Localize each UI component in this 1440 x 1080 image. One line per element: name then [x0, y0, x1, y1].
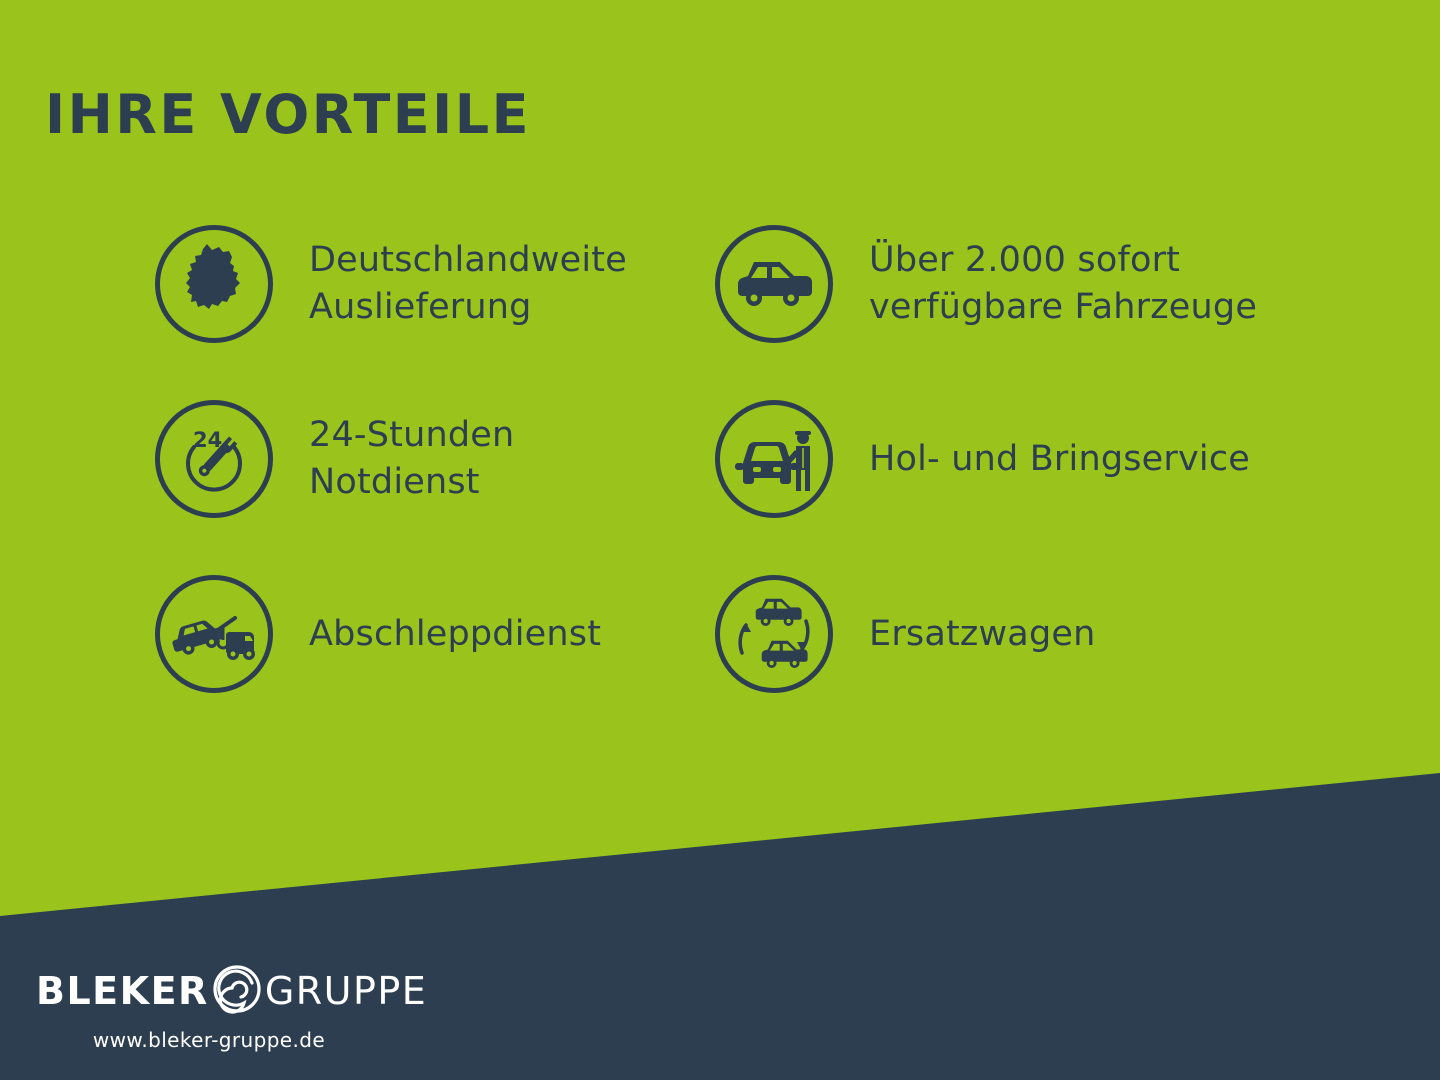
benefit-item-24-stunden-notdienst[interactable]: 24 24-Stunden Notdienst: [155, 400, 715, 518]
benefit-label: Ersatzwagen: [869, 611, 1096, 658]
footer-logo-block[interactable]: BLEKER GRUPPE www.bleker-gruppe.de: [36, 963, 416, 1052]
benefit-label-line2: verfügbare Fahrzeuge: [869, 284, 1257, 331]
benefits-row-1: Deutschlandweite Auslieferung: [155, 225, 1355, 400]
benefit-label: Abschleppdienst: [309, 611, 601, 658]
benefit-label: Über 2.000 sofort verfügbare Fahrzeuge: [869, 237, 1257, 330]
car-with-driver-icon: [715, 400, 833, 518]
car-exchange-icon: [715, 575, 833, 693]
benefits-row-2: 24 24-Stunden Notdienst: [155, 400, 1355, 575]
logo-gruppe-text: GRUPPE: [265, 972, 428, 1010]
benefit-label-line1: 24-Stunden: [309, 415, 514, 455]
page-title: IHRE VORTEILE: [45, 88, 531, 142]
clock-24-wrench-icon: 24: [155, 400, 273, 518]
benefit-item-ersatzwagen[interactable]: Ersatzwagen: [715, 575, 1335, 693]
svg-text:24: 24: [193, 428, 222, 452]
tow-truck-icon: [155, 575, 273, 693]
slide-root: IHRE VORTEILE Deutschlandweite Ausliefer…: [0, 0, 1440, 1080]
logo-url-text[interactable]: www.bleker-gruppe.de: [36, 1028, 416, 1052]
benefit-item-deutschlandweite-auslieferung[interactable]: Deutschlandweite Auslieferung: [155, 225, 715, 343]
benefit-label: 24-Stunden Notdienst: [309, 412, 514, 505]
logo-wordmark: BLEKER GRUPPE: [36, 963, 416, 1018]
spiral-logo-icon: [211, 963, 263, 1018]
benefit-label-line1: Über 2.000 sofort: [869, 240, 1180, 280]
benefit-item-abschleppdienst[interactable]: Abschleppdienst: [155, 575, 715, 693]
benefit-label-line1: Ersatzwagen: [869, 614, 1096, 654]
benefit-item-hol-und-bringservice[interactable]: Hol- und Bringservice: [715, 400, 1335, 518]
germany-map-icon: [155, 225, 273, 343]
benefit-label-line2: Auslieferung: [309, 284, 627, 331]
logo-bleker-text: BLEKER: [36, 972, 209, 1010]
benefit-label: Hol- und Bringservice: [869, 436, 1250, 483]
benefits-row-3: Abschleppdienst: [155, 575, 1355, 750]
benefit-label: Deutschlandweite Auslieferung: [309, 237, 627, 330]
benefit-label-line1: Hol- und Bringservice: [869, 439, 1250, 479]
benefit-label-line1: Abschleppdienst: [309, 614, 601, 654]
benefits-grid: Deutschlandweite Auslieferung: [155, 225, 1355, 750]
benefit-label-line1: Deutschlandweite: [309, 240, 627, 280]
benefit-label-line2: Notdienst: [309, 459, 514, 506]
benefit-item-verfuegbare-fahrzeuge[interactable]: Über 2.000 sofort verfügbare Fahrzeuge: [715, 225, 1335, 343]
car-side-icon: [715, 225, 833, 343]
